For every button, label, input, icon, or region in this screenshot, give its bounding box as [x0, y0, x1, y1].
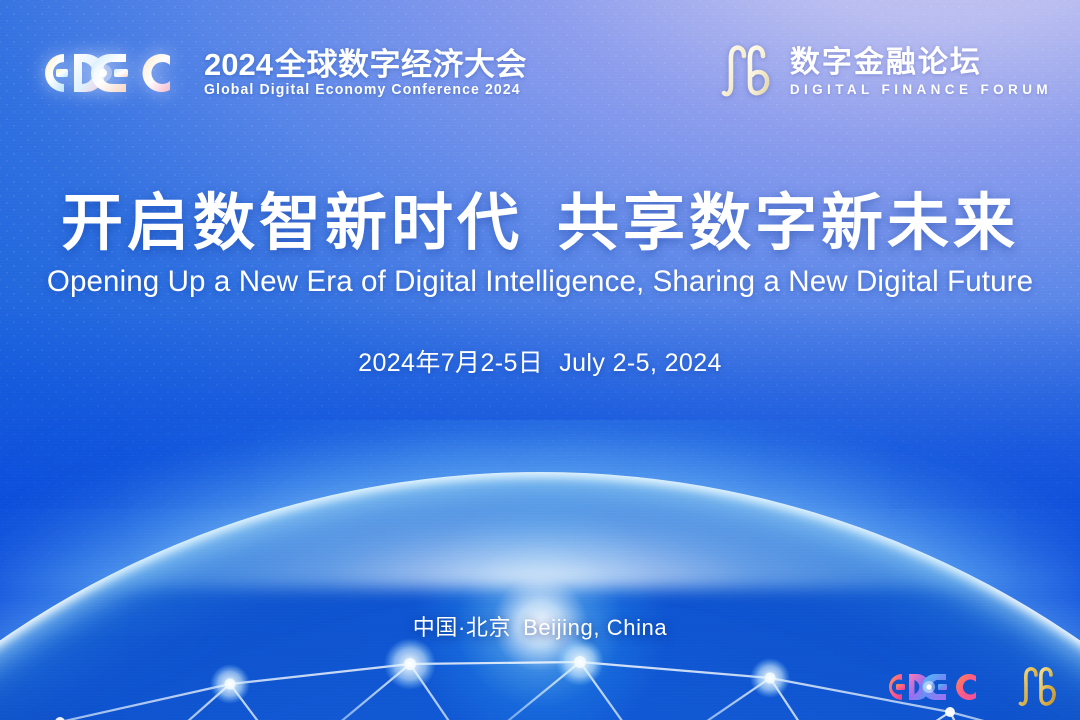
headline-part-2: 共享数字新未来 — [557, 189, 1019, 258]
gdec-title-en: Global Digital Economy Conference 2024 — [204, 83, 521, 98]
dff-title-en: DIGITAL FINANCE FORUM — [790, 83, 1052, 97]
gdec-logo-lockup: 2024全球数字经济大会 Global Digital Economy Conf… — [30, 44, 531, 102]
gdec-logo-icon — [878, 667, 990, 707]
event-date-en: July 2-5, 2024 — [559, 349, 722, 377]
main-headline-en: Opening Up a New Era of Digital Intellig… — [8, 265, 1072, 298]
gdec-title-year: 2024 — [204, 47, 273, 82]
ff-monogram-icon — [719, 44, 777, 100]
gdec-monogram-icon — [30, 44, 190, 102]
headline-part-1: 开启数智新时代 — [61, 189, 523, 258]
dff-title-cn: 数字金融论坛 — [790, 48, 982, 78]
event-dates: 2024年7月2-5日July 2-5, 2024 — [0, 351, 1080, 376]
header: 2024全球数字经济大会 Global Digital Economy Conf… — [0, 0, 1080, 128]
gdec-title-cn: 2024全球数字经济大会 — [204, 49, 531, 80]
gdec-title-cn-rest: 全球数字经济大会 — [275, 47, 527, 82]
main-headline-cn: 开启数智新时代共享数字新未来 — [0, 192, 1080, 256]
event-location-en: Beijing, China — [523, 615, 667, 640]
event-location-cn: 中国·北京 — [413, 615, 511, 640]
event-date-cn: 2024年7月2-5日 — [358, 349, 543, 377]
conference-backdrop: 2024全球数字经济大会 Global Digital Economy Conf… — [0, 0, 1080, 720]
footer-logos — [878, 666, 1062, 708]
ff-logo-icon — [1016, 666, 1062, 708]
event-location: 中国·北京Beijing, China — [0, 617, 1080, 639]
dff-logo-lockup: 数字金融论坛 DIGITAL FINANCE FORUM — [719, 44, 1052, 100]
